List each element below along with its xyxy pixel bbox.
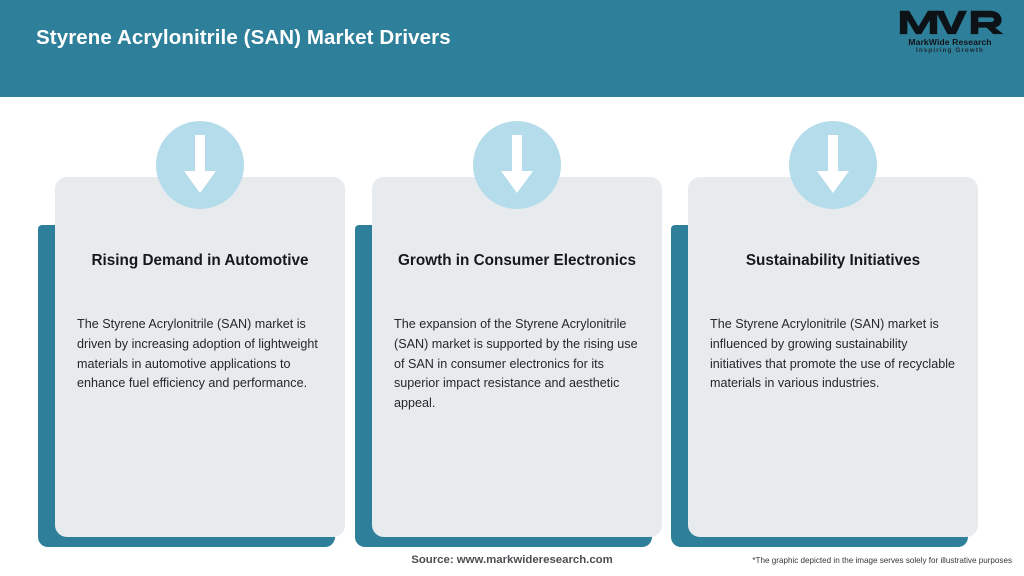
- brand-logo: MarkWide Research Inspiring Growth: [894, 8, 1006, 62]
- card-panel: Rising Demand in Automotive The Styrene …: [55, 177, 345, 537]
- card-body-text: The expansion of the Styrene Acrylonitri…: [394, 315, 646, 414]
- mwr-logo-icon: [894, 8, 1006, 36]
- driver-cards-container: Rising Demand in Automotive The Styrene …: [0, 97, 1024, 537]
- card-title: Sustainability Initiatives: [706, 249, 960, 272]
- page-title: Styrene Acrylonitrile (SAN) Market Drive…: [36, 26, 451, 50]
- card-panel: Growth in Consumer Electronics The expan…: [372, 177, 662, 537]
- card-title: Growth in Consumer Electronics: [390, 249, 644, 272]
- page-header: Styrene Acrylonitrile (SAN) Market Drive…: [0, 0, 1024, 97]
- arrow-down-icon: [789, 121, 877, 209]
- logo-company-name: MarkWide Research: [894, 37, 1006, 47]
- arrow-down-icon: [473, 121, 561, 209]
- card-body-text: The Styrene Acrylonitrile (SAN) market i…: [77, 315, 329, 394]
- disclaimer-label: *The graphic depicted in the image serve…: [752, 556, 1012, 565]
- card-title: Rising Demand in Automotive: [73, 249, 327, 272]
- driver-card[interactable]: Rising Demand in Automotive The Styrene …: [55, 177, 345, 547]
- card-panel: Sustainability Initiatives The Styrene A…: [688, 177, 978, 537]
- driver-card[interactable]: Sustainability Initiatives The Styrene A…: [688, 177, 978, 547]
- card-body-text: The Styrene Acrylonitrile (SAN) market i…: [710, 315, 962, 394]
- driver-card[interactable]: Growth in Consumer Electronics The expan…: [372, 177, 662, 547]
- arrow-down-icon: [156, 121, 244, 209]
- logo-tagline: Inspiring Growth: [894, 47, 1006, 55]
